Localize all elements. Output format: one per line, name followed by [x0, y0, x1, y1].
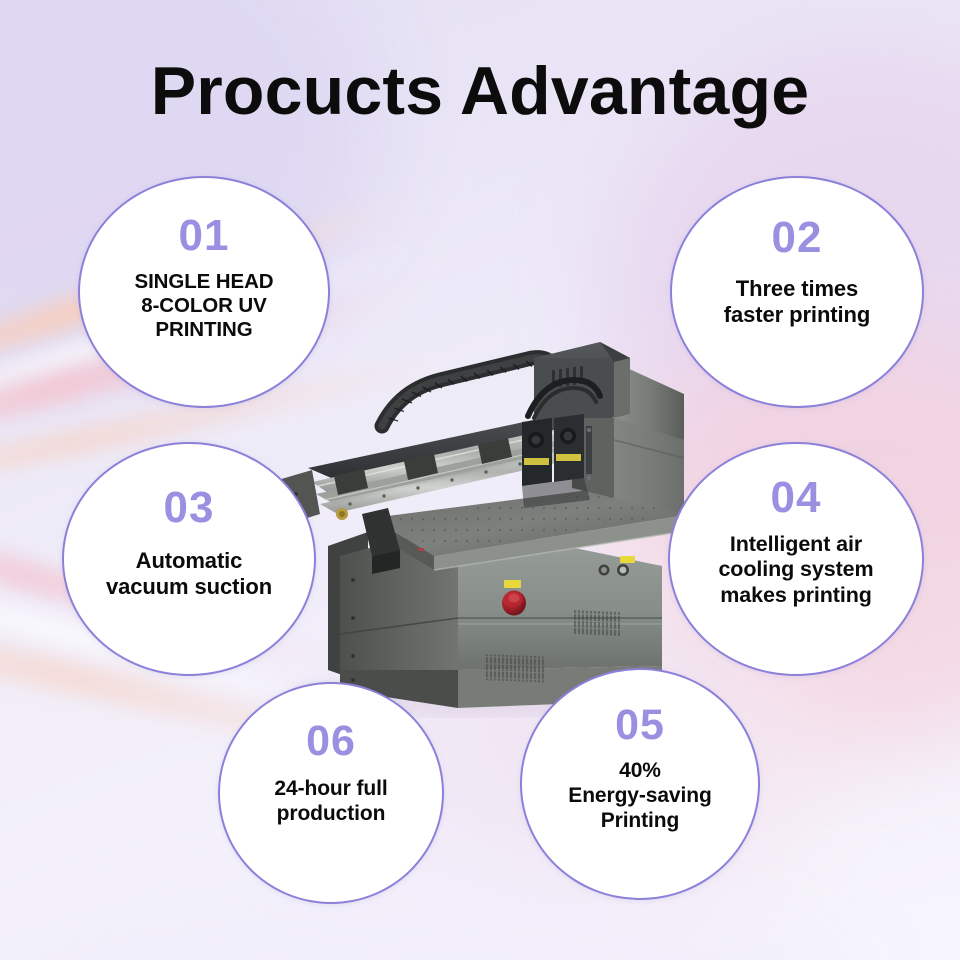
feature-text-02-line-1: Three times: [724, 276, 870, 302]
feature-text-02: Three times faster printing: [724, 276, 870, 328]
page-title: Procucts Advantage: [0, 52, 960, 130]
feature-text-04: Intelligent air cooling system makes pri…: [718, 532, 873, 608]
feature-number-05: 05: [615, 704, 665, 747]
feature-number-06: 06: [306, 720, 356, 763]
feature-text-01-line-2: 8-COLOR UV: [135, 294, 274, 318]
feature-text-06-line-1: 24-hour full: [274, 777, 387, 802]
feature-number-03: 03: [164, 486, 215, 530]
feature-text-03: Automatic vacuum suction: [106, 548, 272, 600]
feature-circle-06[interactable]: 06 24-hour full production: [218, 682, 444, 904]
feature-text-06-line-2: production: [274, 802, 387, 827]
feature-text-04-line-3: makes printing: [718, 583, 873, 608]
feature-text-01: SINGLE HEAD 8-COLOR UV PRINTING: [135, 270, 274, 343]
feature-number-04: 04: [771, 476, 822, 520]
feature-circle-01[interactable]: 01 SINGLE HEAD 8-COLOR UV PRINTING: [78, 176, 330, 408]
feature-text-03-line-2: vacuum suction: [106, 574, 272, 600]
feature-circle-03[interactable]: 03 Automatic vacuum suction: [62, 442, 316, 676]
feature-text-02-line-2: faster printing: [724, 302, 870, 328]
infographic-canvas: Procucts Advantage: [0, 0, 960, 960]
feature-text-05-line-3: Printing: [568, 809, 711, 834]
feature-text-05-line-2: Energy-saving: [568, 784, 711, 809]
feature-number-01: 01: [179, 214, 230, 258]
feature-text-04-line-2: cooling system: [718, 557, 873, 582]
feature-text-06: 24-hour full production: [274, 777, 387, 827]
feature-text-05-line-1: 40%: [568, 759, 711, 784]
feature-text-05: 40% Energy-saving Printing: [568, 759, 711, 833]
feature-circle-04[interactable]: 04 Intelligent air cooling system makes …: [668, 442, 924, 676]
feature-text-01-line-1: SINGLE HEAD: [135, 270, 274, 294]
feature-number-02: 02: [772, 216, 823, 260]
feature-text-03-line-1: Automatic: [106, 548, 272, 574]
feature-text-04-line-1: Intelligent air: [718, 532, 873, 557]
feature-circle-02[interactable]: 02 Three times faster printing: [670, 176, 924, 408]
feature-text-01-line-3: PRINTING: [135, 318, 274, 342]
feature-circle-05[interactable]: 05 40% Energy-saving Printing: [520, 668, 760, 900]
